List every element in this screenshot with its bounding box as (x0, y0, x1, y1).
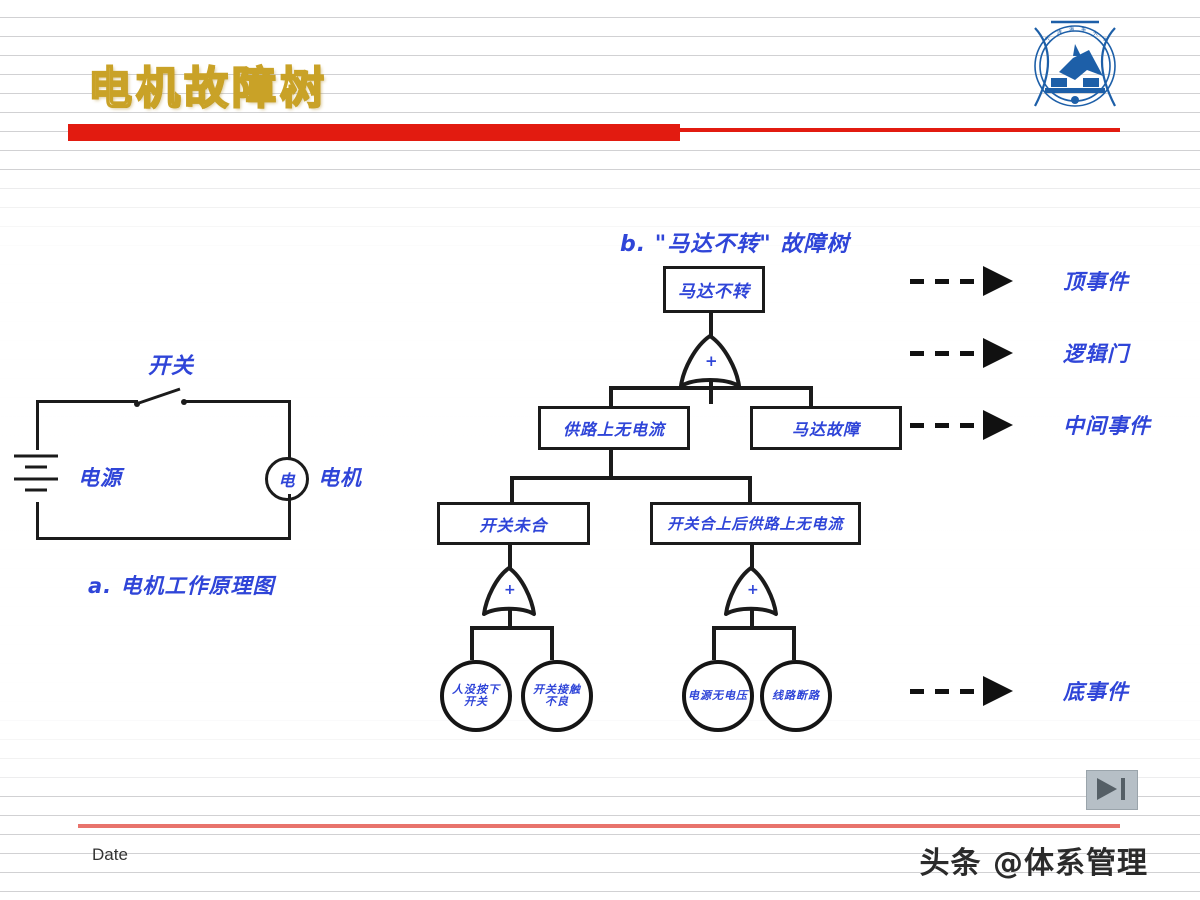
dashed-arrow-segment (935, 689, 949, 694)
circuit-motor-label: 电机 (318, 462, 362, 492)
tree-connector (550, 626, 554, 660)
or-gate-symbol: + (504, 582, 517, 598)
legend-label: 底事件 (1063, 676, 1129, 706)
arrow-head-icon (983, 410, 1013, 440)
skip-to-end-icon (1087, 771, 1135, 807)
dashed-arrow-segment (935, 279, 949, 284)
fault-tree-intermediate-box-1: 供路上无电流 (538, 406, 690, 450)
circuit-wire-right-upper (288, 400, 291, 458)
circuit-switch-label: 开关 (148, 348, 194, 380)
fault-tree-basic-event-1: 人没按下 开关 (440, 660, 512, 732)
legend-row-basic-event: 底事件 (910, 676, 1129, 706)
legend-row-intermediate-event: 中间事件 (910, 410, 1151, 440)
basic-event-label-line1: 电源无电压 (688, 690, 748, 702)
svg-text:连: 连 (1057, 29, 1062, 36)
tree-connector (470, 626, 474, 660)
dashed-arrow-segment (910, 351, 924, 356)
tree-connector (748, 476, 752, 504)
or-gate-right: + (720, 566, 782, 623)
fault-tree-basic-event-4: 线路断路 (760, 660, 832, 732)
fault-tree-intermediate-box-4: 开关合上后供路上无电流 (650, 502, 861, 545)
dashed-arrow-segment (910, 423, 924, 428)
legend-row-logic-gate: 逻辑门 (910, 338, 1129, 368)
tree-connector (712, 626, 716, 660)
top-event-label: 马达不转 (678, 277, 750, 302)
university-seal-logo: 大连海 事大学 (1015, 14, 1135, 112)
basic-event-label-line2: 不良 (545, 696, 569, 708)
intermediate-event-label: 开关合上后供路上无电流 (667, 513, 843, 534)
or-gate-left: + (478, 566, 540, 623)
circuit-switch-symbol (134, 386, 190, 413)
motor-symbol-label: 电 (278, 467, 295, 491)
tree-connector (609, 386, 613, 408)
basic-event-label-line2: 开关 (464, 696, 488, 708)
or-gate-symbol: + (747, 582, 760, 598)
dashed-arrow-segment (935, 351, 949, 356)
fault-tree-basic-event-2: 开关接触 不良 (521, 660, 593, 732)
title-accent-bar (68, 124, 680, 141)
svg-text:事: 事 (1081, 26, 1086, 33)
basic-event-label-line1: 线路断路 (772, 690, 820, 702)
arrow-head-icon (983, 338, 1013, 368)
circuit-wire-top-left (36, 400, 138, 403)
intermediate-event-label: 马达故障 (792, 416, 860, 440)
svg-text:大: 大 (1093, 30, 1098, 37)
legend-label: 顶事件 (1063, 266, 1129, 296)
footer-divider (78, 824, 1120, 828)
arrow-head-icon (983, 266, 1013, 296)
dashed-arrow-segment (960, 279, 974, 284)
fault-tree-heading: b. "马达不转" 故障树 (620, 226, 849, 258)
circuit-wire-left (36, 400, 39, 450)
svg-text:大: 大 (1045, 35, 1050, 42)
dashed-arrow-segment (960, 351, 974, 356)
legend-label: 逻辑门 (1063, 338, 1129, 368)
dashed-arrow-segment (935, 423, 949, 428)
dashed-arrow-segment (910, 279, 924, 284)
tree-connector (809, 386, 813, 408)
svg-text:海: 海 (1069, 26, 1074, 33)
circuit-wire-top-right (183, 400, 290, 403)
watermark-label: 头条 @体系管理 (920, 838, 1148, 882)
next-slide-button[interactable] (1086, 770, 1138, 810)
fault-tree-top-event-box: 马达不转 (663, 266, 765, 313)
dashed-arrow-segment (910, 689, 924, 694)
motor-symbol: 电 (265, 457, 309, 501)
tree-connector (470, 626, 550, 630)
svg-text:学: 学 (1103, 37, 1108, 44)
fault-tree-intermediate-box-3: 开关未合 (437, 502, 590, 545)
fault-tree-intermediate-box-2: 马达故障 (750, 406, 902, 450)
intermediate-event-label: 开关未合 (479, 512, 547, 536)
tree-connector (510, 476, 752, 480)
page-title: 电机故障树 (88, 52, 328, 116)
circuit-wire-bottom (36, 537, 290, 540)
or-gate-symbol: + (705, 352, 719, 370)
dashed-arrow-segment (960, 689, 974, 694)
circuit-wire-right-lower (288, 494, 291, 540)
arrow-head-icon (983, 676, 1013, 706)
circuit-source-label: 电源 (78, 462, 122, 492)
legend-label: 中间事件 (1063, 410, 1151, 440)
circuit-caption: a. 电机工作原理图 (88, 570, 274, 600)
tree-connector (510, 476, 514, 504)
tree-connector (792, 626, 796, 660)
or-gate-top: + (675, 334, 745, 395)
legend-row-top-event: 顶事件 (910, 266, 1129, 296)
battery-symbol (12, 450, 62, 507)
tree-connector (712, 626, 792, 630)
intermediate-event-label: 供路上无电流 (563, 416, 665, 440)
title-accent-line (680, 128, 1120, 132)
dashed-arrow-segment (960, 423, 974, 428)
fault-tree-basic-event-3: 电源无电压 (682, 660, 754, 732)
footer-date-label: Date (92, 845, 128, 865)
circuit-wire-left-lower (36, 502, 39, 540)
